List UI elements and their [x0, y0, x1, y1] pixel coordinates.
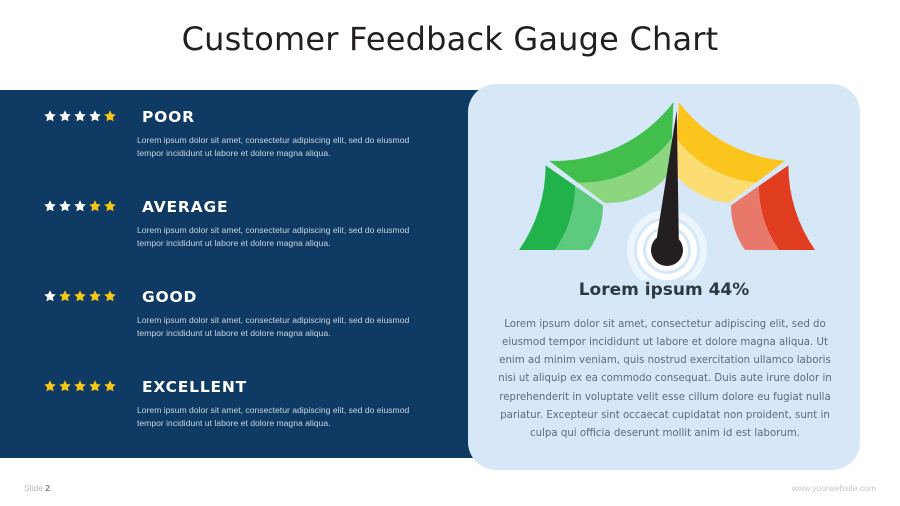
star-icon [89, 290, 101, 302]
gauge-chart [488, 98, 848, 280]
star-rating-excellent [44, 380, 116, 392]
star-icon [104, 380, 116, 392]
star-icon [89, 380, 101, 392]
rating-label: AVERAGE [142, 198, 228, 216]
rating-description: Lorem ipsum dolor sit amet, consectetur … [137, 314, 435, 341]
slide-label: Slide [24, 483, 43, 493]
star-icon [89, 110, 101, 122]
rating-description: Lorem ipsum dolor sit amet, consectetur … [137, 224, 435, 251]
star-icon [74, 290, 86, 302]
star-icon [59, 290, 71, 302]
gauge-svg [488, 98, 848, 280]
rating-description: Lorem ipsum dolor sit amet, consectetur … [137, 134, 435, 161]
star-icon [44, 380, 56, 392]
slide-canvas: Customer Feedback Gauge Chart POOR Lorem… [0, 0, 900, 506]
list-item[interactable]: POOR Lorem ipsum dolor sit amet, consect… [0, 108, 470, 198]
star-icon [89, 200, 101, 212]
slide-number: 2 [45, 483, 50, 493]
slide-number-footer: Slide 2 [24, 483, 50, 493]
star-icon [59, 200, 71, 212]
star-icon [44, 110, 56, 122]
rating-description: Lorem ipsum dolor sit amet, consectetur … [137, 404, 435, 431]
star-icon [74, 110, 86, 122]
star-icon [44, 200, 56, 212]
rating-label: EXCELLENT [142, 378, 247, 396]
star-icon [104, 290, 116, 302]
star-icon [44, 290, 56, 302]
website-footer: www.yourwebsite.com [792, 483, 876, 493]
list-item[interactable]: GOOD Lorem ipsum dolor sit amet, consect… [0, 288, 470, 378]
star-rating-average [44, 200, 116, 212]
star-icon [74, 200, 86, 212]
star-icon [74, 380, 86, 392]
star-icon [59, 110, 71, 122]
star-rating-good [44, 290, 116, 302]
gauge-hub-center [651, 234, 683, 266]
rating-label: GOOD [142, 288, 197, 306]
star-icon [59, 380, 71, 392]
ratings-list: POOR Lorem ipsum dolor sit amet, consect… [0, 90, 470, 458]
card-body-text: Lorem ipsum dolor sit amet, consectetur … [489, 316, 841, 443]
star-icon [104, 200, 116, 212]
page-title: Customer Feedback Gauge Chart [0, 20, 900, 58]
star-rating-poor [44, 110, 116, 122]
gauge-value-caption: Lorem ipsum 44% [468, 280, 860, 300]
star-icon [104, 110, 116, 122]
list-item[interactable]: EXCELLENT Lorem ipsum dolor sit amet, co… [0, 378, 470, 468]
rating-label: POOR [142, 108, 195, 126]
list-item[interactable]: AVERAGE Lorem ipsum dolor sit amet, cons… [0, 198, 470, 288]
